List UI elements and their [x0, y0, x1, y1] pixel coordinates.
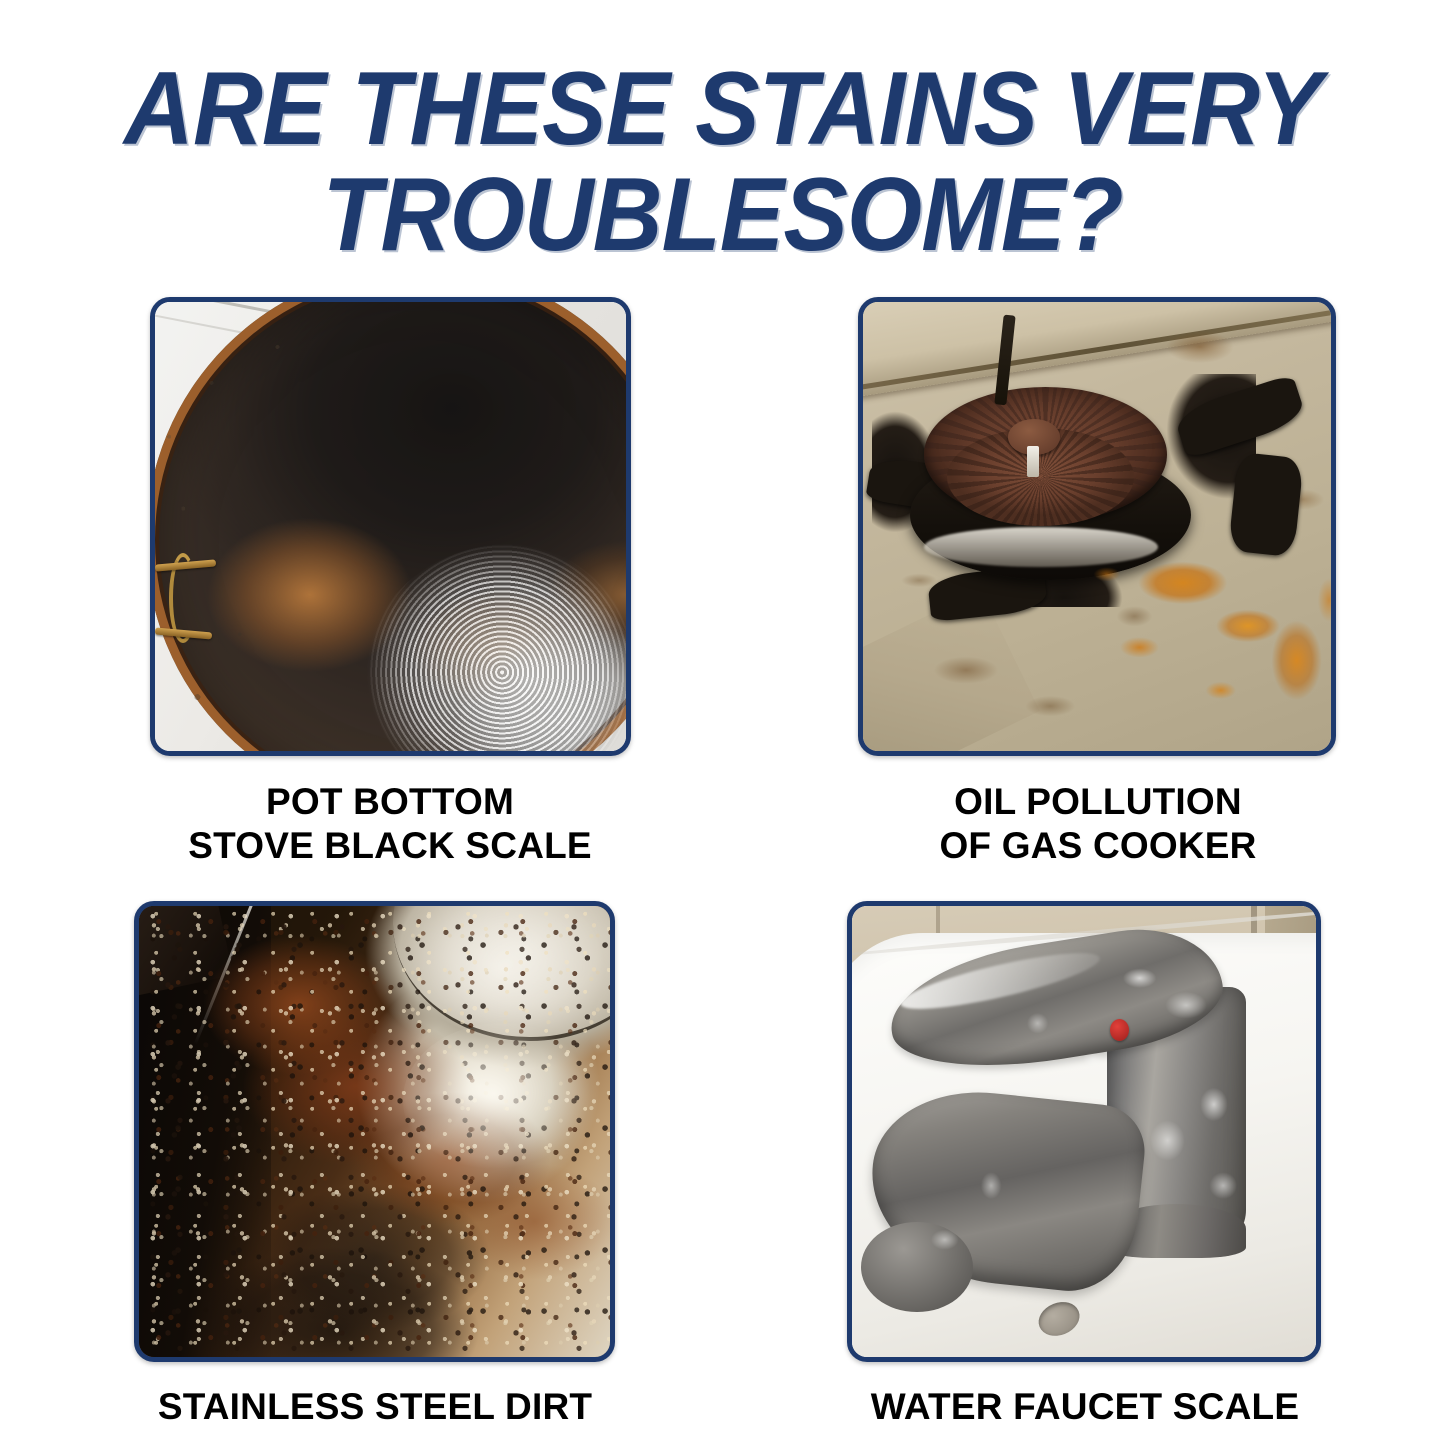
caption-water-faucet: WATER FAUCET SCALE	[820, 1385, 1350, 1429]
burnt-wok-bottom-photo	[155, 302, 626, 751]
stain-card-pot-bottom[interactable]	[150, 297, 631, 756]
product-promo-page: ARE THESE STAINS VERY TROUBLESOME?	[0, 0, 1445, 1445]
photo-frame	[150, 297, 631, 756]
burner-igniter	[1027, 446, 1039, 477]
stain-card-water-faucet[interactable]	[847, 901, 1321, 1362]
stain-examples-grid: POT BOTTOM STOVE BLACK SCALE	[0, 0, 1445, 1445]
photo-frame	[847, 901, 1321, 1362]
caption-pot-bottom: POT BOTTOM STOVE BLACK SCALE	[110, 780, 670, 867]
stain-card-gas-cooker[interactable]	[858, 297, 1336, 756]
limescale-deposits	[852, 906, 1316, 1357]
rusted-stainless-steel-photo	[139, 906, 610, 1357]
stain-card-stainless-steel[interactable]	[134, 901, 615, 1362]
oil-splatter-stain	[1069, 527, 1331, 743]
specular-highlight	[403, 1023, 601, 1176]
greasy-gas-burner-photo	[863, 302, 1331, 751]
caption-gas-cooker: OIL POLLUTION OF GAS COOKER	[820, 780, 1376, 867]
caption-stainless-steel: STAINLESS STEEL DIRT	[110, 1385, 640, 1429]
limescale-faucet-photo	[852, 906, 1316, 1357]
photo-frame	[858, 297, 1336, 756]
photo-frame	[134, 901, 615, 1362]
tile-specks	[155, 302, 626, 751]
